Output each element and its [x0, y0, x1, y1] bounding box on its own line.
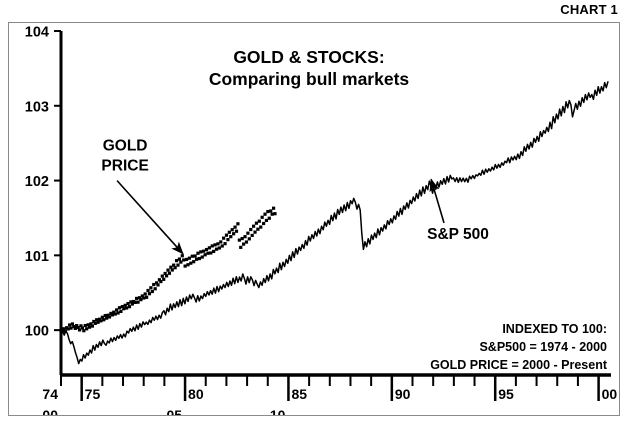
series-marker	[115, 308, 118, 311]
series-marker	[102, 318, 105, 321]
series-marker	[116, 311, 119, 314]
series-marker	[162, 278, 165, 281]
legend-heading: INDEXED TO 100:	[502, 322, 607, 336]
series-marker	[218, 246, 221, 249]
x-tick-label-top: 74	[42, 386, 58, 402]
series-marker	[251, 234, 254, 237]
series-marker	[185, 258, 188, 261]
series-marker	[246, 232, 249, 235]
series-marker	[266, 210, 269, 213]
annotation-sp500-label: S&P 500	[427, 226, 489, 243]
series-marker	[223, 242, 226, 245]
chart-title: GOLD & STOCKS:Comparing bull markets	[209, 47, 410, 89]
series-marker	[179, 260, 182, 263]
series-marker	[184, 264, 187, 267]
series-marker	[128, 305, 131, 308]
annotation-gold-price-line2: PRICE	[101, 158, 148, 175]
series-marker	[175, 259, 178, 262]
series-marker	[248, 237, 251, 240]
series-marker	[222, 237, 225, 240]
series-marker	[118, 306, 121, 309]
series-marker	[235, 230, 238, 233]
legend-line: GOLD PRICE = 2000 - Present	[430, 358, 608, 372]
series-marker	[232, 232, 235, 235]
x-tick-label-top: 95	[498, 386, 514, 402]
series-marker	[135, 297, 138, 300]
series-marker	[105, 317, 108, 320]
series-marker	[126, 302, 129, 305]
series-marker	[111, 313, 114, 316]
series-marker	[198, 257, 201, 260]
series-marker	[91, 324, 94, 327]
series-marker	[212, 250, 215, 253]
series-marker	[96, 321, 99, 324]
y-tick-label: 104	[25, 25, 49, 41]
series-marker	[199, 250, 202, 253]
series-marker	[269, 209, 272, 212]
x-tick-label-top: 75	[85, 386, 101, 402]
series-gold-price	[59, 207, 276, 333]
series-marker	[229, 235, 232, 238]
y-tick-label: 100	[25, 324, 49, 340]
series-marker	[228, 231, 231, 234]
series-marker	[108, 315, 111, 318]
legend-line: S&P500 = 1974 - 2000	[479, 340, 607, 354]
series-marker	[238, 239, 241, 242]
annotation-gold-price-line1: GOLD	[103, 138, 148, 155]
series-marker	[273, 212, 276, 215]
series-marker	[206, 252, 209, 255]
series-marker	[186, 263, 189, 266]
annotation-gold-price: GOLDPRICE	[101, 138, 183, 254]
annotation-sp500-arrow	[431, 179, 444, 223]
x-tick-label-top: 90	[395, 386, 411, 402]
series-marker	[156, 283, 159, 286]
series-marker	[174, 266, 177, 269]
series-marker	[165, 274, 168, 277]
series-marker	[243, 235, 246, 238]
series-marker	[178, 257, 181, 260]
series-marker	[181, 254, 184, 257]
series-marker	[261, 216, 264, 219]
series-marker	[176, 264, 179, 267]
series-marker	[99, 319, 102, 322]
series-marker	[215, 248, 218, 251]
series-marker	[252, 225, 255, 228]
series-marker	[255, 222, 258, 225]
series-marker	[142, 296, 145, 299]
series-marker	[166, 269, 169, 272]
series-marker	[221, 244, 224, 247]
series-marker	[272, 207, 275, 210]
series-marker	[258, 220, 261, 223]
series-marker	[171, 268, 174, 271]
y-tick-label: 101	[25, 249, 49, 265]
series-marker	[204, 253, 207, 256]
series-marker	[268, 217, 271, 220]
series-marker	[119, 310, 122, 313]
legend-box: INDEXED TO 100:S&P500 = 1974 - 2000GOLD …	[430, 322, 608, 372]
series-marker	[245, 240, 248, 243]
series-marker	[82, 329, 85, 332]
series-marker	[194, 254, 197, 257]
series-marker	[169, 266, 172, 269]
series-marker	[189, 262, 192, 265]
series-marker	[233, 226, 236, 229]
series-marker	[201, 255, 204, 258]
y-tick-label: 103	[25, 99, 49, 115]
series-marker	[161, 275, 164, 278]
series-marker	[122, 307, 125, 310]
x-tick-label-bottom: 05	[166, 407, 182, 415]
series-marker	[253, 231, 256, 234]
series-marker	[84, 324, 87, 327]
series-marker	[64, 330, 67, 333]
series-marker	[239, 246, 242, 249]
x-tick-label-bottom: 10	[270, 407, 286, 415]
series-marker	[85, 327, 88, 330]
series-marker	[78, 328, 81, 331]
chart-title-line1: GOLD & STOCKS:	[233, 47, 384, 67]
series-marker	[226, 238, 229, 241]
series-marker	[182, 258, 185, 261]
chart-number-label: CHART 1	[560, 2, 618, 17]
series-marker	[208, 246, 211, 249]
chart-title-line2: Comparing bull markets	[209, 69, 410, 89]
series-marker	[209, 251, 212, 254]
series-marker	[256, 228, 259, 231]
series-marker	[211, 244, 214, 247]
series-marker	[225, 234, 228, 237]
series-marker	[146, 289, 149, 292]
series-marker	[144, 292, 147, 295]
x-tick-label-top: 85	[291, 386, 307, 402]
series-marker	[262, 222, 265, 225]
series-marker	[148, 292, 151, 295]
series-marker	[192, 260, 195, 263]
series-marker	[213, 243, 216, 246]
series-marker	[151, 290, 154, 293]
series-marker	[205, 248, 208, 251]
series-marker	[188, 257, 191, 260]
series-marker	[242, 243, 245, 246]
x-tick-label-top: 80	[188, 386, 204, 402]
series-marker	[216, 242, 219, 245]
series-marker	[134, 301, 137, 304]
series-marker	[149, 286, 152, 289]
series-marker	[236, 222, 239, 225]
series-marker	[74, 327, 77, 330]
series-marker	[202, 250, 205, 253]
series-marker	[139, 298, 142, 301]
series-marker	[154, 287, 157, 290]
series-marker	[159, 280, 162, 283]
series-marker	[67, 327, 70, 330]
series-marker	[152, 283, 155, 286]
series-marker	[271, 213, 274, 216]
series-marker	[263, 213, 266, 216]
series-marker	[88, 326, 91, 329]
series-marker	[191, 255, 194, 258]
series-marker	[241, 237, 244, 240]
series-marker	[231, 228, 234, 231]
series-marker	[196, 252, 199, 255]
y-tick-label: 102	[25, 174, 49, 190]
chart-plot-frame: 10010110210310474758085909500000510GOLD …	[8, 22, 620, 416]
annotation-gold-price-arrow	[117, 181, 183, 254]
chart-svg: 10010110210310474758085909500000510GOLD …	[9, 23, 619, 415]
series-marker	[265, 219, 268, 222]
series-marker	[249, 228, 252, 231]
series-marker	[125, 306, 128, 309]
series-marker	[195, 258, 198, 261]
x-tick-label-bottom: 00	[42, 407, 58, 415]
series-marker	[259, 225, 262, 228]
series-marker	[94, 322, 97, 325]
series-marker	[168, 272, 171, 275]
chart-container: CHART 1 10010110210310474758085909500000…	[0, 0, 628, 444]
series-marker	[69, 327, 72, 330]
series-marker	[136, 301, 139, 304]
series-marker	[145, 296, 148, 299]
series-marker	[114, 312, 117, 315]
series-marker	[219, 240, 222, 243]
x-tick-label-top: 00	[602, 386, 618, 402]
series-marker	[68, 323, 71, 326]
